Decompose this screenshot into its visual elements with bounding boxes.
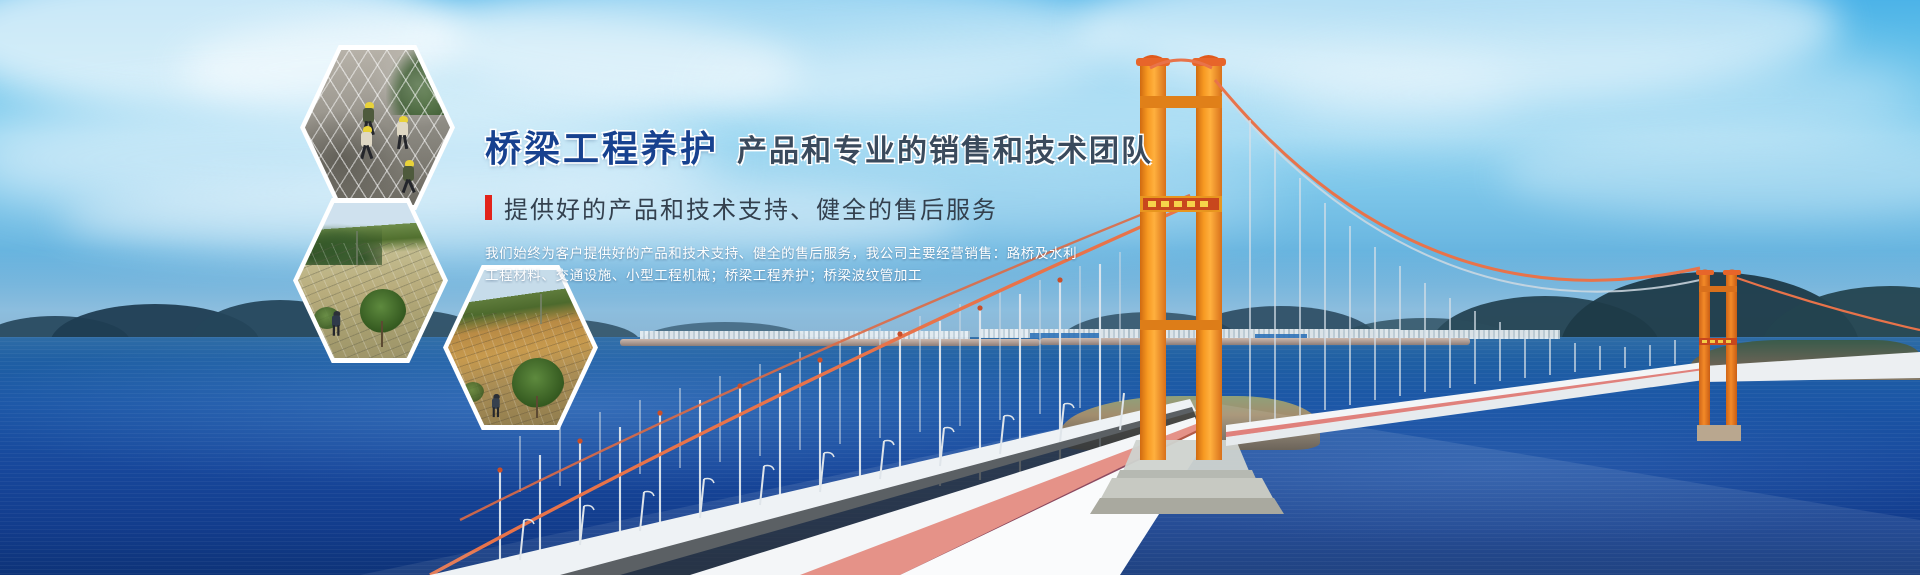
description-block: 我们始终为客户提供好的产品和技术支持、健全的售后服务，我公司主要经营销售：路桥及… [485, 243, 1245, 287]
description-line-2: 工程材料、交通设施、小型工程机械；桥梁工程养护；桥梁波纹管加工 [485, 265, 1245, 287]
description-line-1: 我们始终为客户提供好的产品和技术支持、健全的售后服务，我公司主要经营销售：路桥及… [485, 243, 1245, 265]
main-cable-right-far [1222, 92, 1700, 292]
tower-base-detail [1090, 478, 1284, 514]
headline-main: 桥梁工程养护 [485, 120, 719, 172]
hex-photo-rock-slope-image [305, 50, 450, 205]
hex-photo-green-hillside-image [298, 203, 443, 358]
subline-text: 提供好的产品和技术支持、健全的售后服务 [504, 190, 998, 225]
hex-photo-earth-slope-image [448, 270, 593, 425]
subline-row: 提供好的产品和技术支持、健全的售后服务 [485, 190, 1245, 225]
hero-banner: 桥梁工程养护 产品和专业的销售和技术团队 提供好的产品和技术支持、健全的售后服务… [0, 0, 1920, 575]
headline-row: 桥梁工程养护 产品和专业的销售和技术团队 [485, 120, 1245, 172]
headline-sub: 产品和专业的销售和技术团队 [737, 126, 1153, 170]
banner-copy: 桥梁工程养护 产品和专业的销售和技术团队 提供好的产品和技术支持、健全的售后服务… [485, 120, 1245, 287]
accent-bar [485, 195, 492, 220]
suspension-bridge [0, 0, 1920, 575]
main-cable-right-near [1215, 80, 1700, 280]
